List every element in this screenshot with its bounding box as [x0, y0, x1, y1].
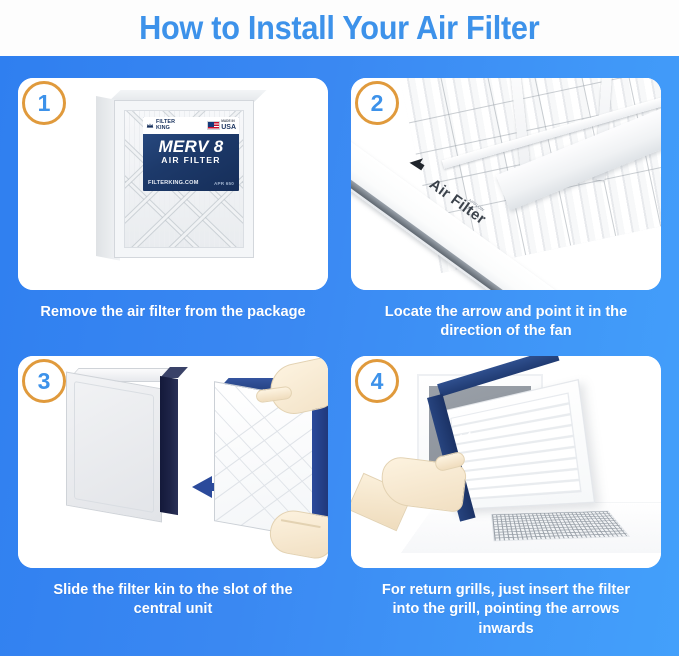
unit-inner-outline — [74, 381, 154, 513]
air-filter-subtitle: AIR FILTER — [143, 156, 239, 165]
step-number-1: 1 — [38, 92, 51, 115]
country-text: USA — [221, 124, 236, 131]
step-card-2: Air Filter AIRFLOW 2 Locate the arrow an… — [351, 78, 661, 350]
unit-front-face — [66, 372, 162, 523]
step-caption-1: Remove the air filter from the package — [18, 303, 328, 322]
step-card-1: FILTER KING MADE IN USA — [18, 78, 328, 350]
step-card-4: 4 For return grills, just insert the fil… — [351, 356, 661, 646]
step-2-image-card: Air Filter AIRFLOW 2 — [351, 78, 661, 290]
step-caption-4: For return grills, just insert the filte… — [351, 581, 661, 639]
label-header-strip: FILTER KING MADE IN USA — [143, 117, 239, 134]
step-4-image-card: 4 — [351, 356, 661, 568]
step-card-3: 3 Slide the filter kin to the slot of th… — [18, 356, 328, 646]
step-1-image-card: FILTER KING MADE IN USA — [18, 78, 328, 290]
air-filter-photo: FILTER KING MADE IN USA — [96, 90, 256, 262]
step-number-badge-2: 2 — [355, 81, 399, 125]
step-caption-2: Locate the arrow and point it in the dir… — [351, 303, 661, 342]
website-text: FILTERKING.COM — [148, 180, 199, 186]
usa-flag-icon — [207, 121, 220, 130]
filter-brand-label: FILTER KING MADE IN USA — [143, 117, 239, 191]
page-title: How to Install Your Air Filter — [139, 9, 539, 47]
step-number-badge-3: 3 — [22, 359, 66, 403]
infographic-poster: How to Install Your Air Filter — [0, 0, 679, 656]
filter-king-logo: FILTER KING — [146, 120, 175, 131]
brand-text: FILTER KING — [156, 120, 175, 131]
unit-filter-slot — [160, 376, 178, 515]
ceiling-grate-mesh — [491, 511, 630, 542]
apr-rating-text: APR 650 — [214, 181, 234, 186]
merv-rating-text: MERV 8 — [143, 138, 239, 155]
step-number-4: 4 — [371, 370, 384, 393]
made-in-text: MADE IN — [221, 120, 236, 123]
step-number-2: 2 — [371, 92, 384, 115]
step-number-badge-4: 4 — [355, 359, 399, 403]
step-caption-3: Slide the filter kin to the slot of the … — [18, 581, 328, 620]
filter-front-face: FILTER KING MADE IN USA — [114, 100, 254, 258]
grill-louvers — [450, 392, 581, 500]
made-in-usa-badge: MADE IN USA — [207, 120, 236, 131]
step-3-image-card: 3 — [18, 356, 328, 568]
step-number-3: 3 — [38, 370, 51, 393]
steps-grid: FILTER KING MADE IN USA — [0, 56, 679, 656]
header-band: How to Install Your Air Filter — [0, 0, 679, 56]
crown-icon — [146, 122, 154, 130]
central-unit-housing — [66, 370, 178, 520]
step-number-badge-1: 1 — [22, 81, 66, 125]
